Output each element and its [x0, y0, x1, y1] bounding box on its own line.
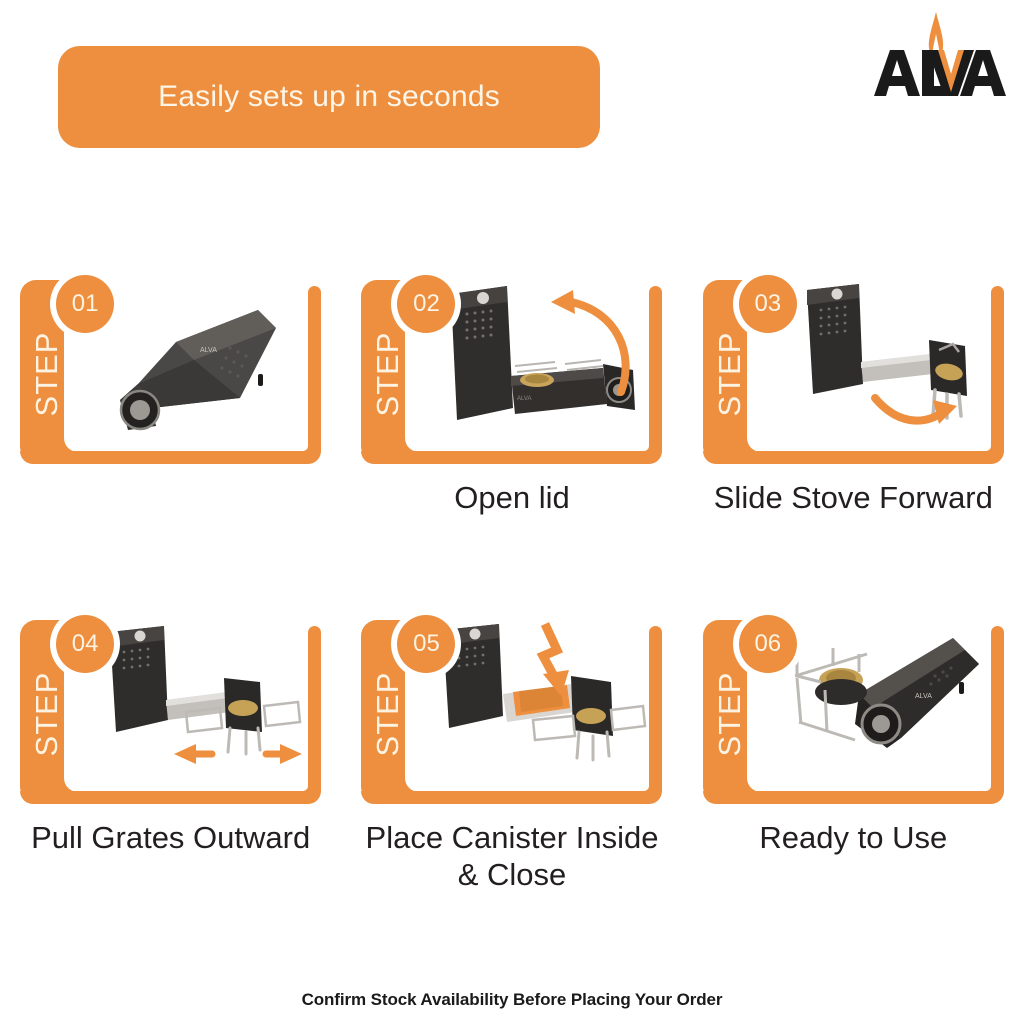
step-number-badge: 01 — [56, 275, 114, 333]
step-number-badge: 06 — [739, 615, 797, 673]
step-card-01: STEP 01 — [8, 264, 333, 464]
step-label: STEP — [712, 319, 748, 429]
svg-text:ALVA: ALVA — [200, 347, 217, 354]
headline-text: Easily sets up in seconds — [158, 80, 500, 114]
step-caption: Ready to Use — [703, 820, 1003, 857]
step-cell-02[interactable]: STEP 02 — [341, 258, 682, 598]
step-label: STEP — [29, 659, 65, 769]
steps-row-2: STEP 04 — [0, 598, 1024, 938]
step-label: STEP — [370, 319, 406, 429]
svg-text:ALVA: ALVA — [915, 693, 932, 700]
steps-row-1: STEP 01 — [0, 258, 1024, 598]
step-caption: Slide Stove Forward — [703, 480, 1003, 517]
step-cell-05[interactable]: STEP 05 — [341, 598, 682, 938]
step-caption: Open lid — [362, 480, 662, 517]
step-cell-03[interactable]: STEP 03 — [683, 258, 1024, 598]
step-cell-04[interactable]: STEP 04 — [0, 598, 341, 938]
step-label: STEP — [29, 319, 65, 429]
card-bottom-rail — [703, 451, 1004, 464]
step-number-badge: 04 — [56, 615, 114, 673]
step-card-05: STEP 05 — [349, 604, 674, 804]
step-card-02: STEP 02 — [349, 264, 674, 464]
steps-grid: STEP 01 — [0, 258, 1024, 938]
step-card-04: STEP 04 — [8, 604, 333, 804]
step-cell-01[interactable]: STEP 01 — [0, 258, 341, 598]
step-card-03: STEP 03 — [691, 264, 1016, 464]
step-caption: Place Canister Inside & Close — [362, 820, 662, 893]
page-header: Easily sets up in seconds — [0, 0, 1024, 178]
card-bottom-rail — [361, 451, 662, 464]
footer-note: Confirm Stock Availability Before Placin… — [0, 990, 1024, 1010]
step-caption: Pull Grates Outward — [21, 820, 321, 857]
step-cell-06[interactable]: STEP 06 — [683, 598, 1024, 938]
card-bottom-rail — [20, 451, 321, 464]
svg-text:ALVA: ALVA — [517, 396, 531, 402]
step-label: STEP — [712, 659, 748, 769]
step-label: STEP — [370, 659, 406, 769]
step-number-badge: 03 — [739, 275, 797, 333]
double-arrow-horizontal — [174, 744, 302, 764]
step-card-06: STEP 06 — [691, 604, 1016, 804]
card-bottom-rail — [703, 791, 1004, 804]
card-bottom-rail — [20, 791, 321, 804]
curved-arrow-right — [875, 398, 957, 424]
headline-banner: Easily sets up in seconds — [58, 46, 600, 148]
alva-brand-logo — [866, 8, 1006, 108]
card-bottom-rail — [361, 791, 662, 804]
